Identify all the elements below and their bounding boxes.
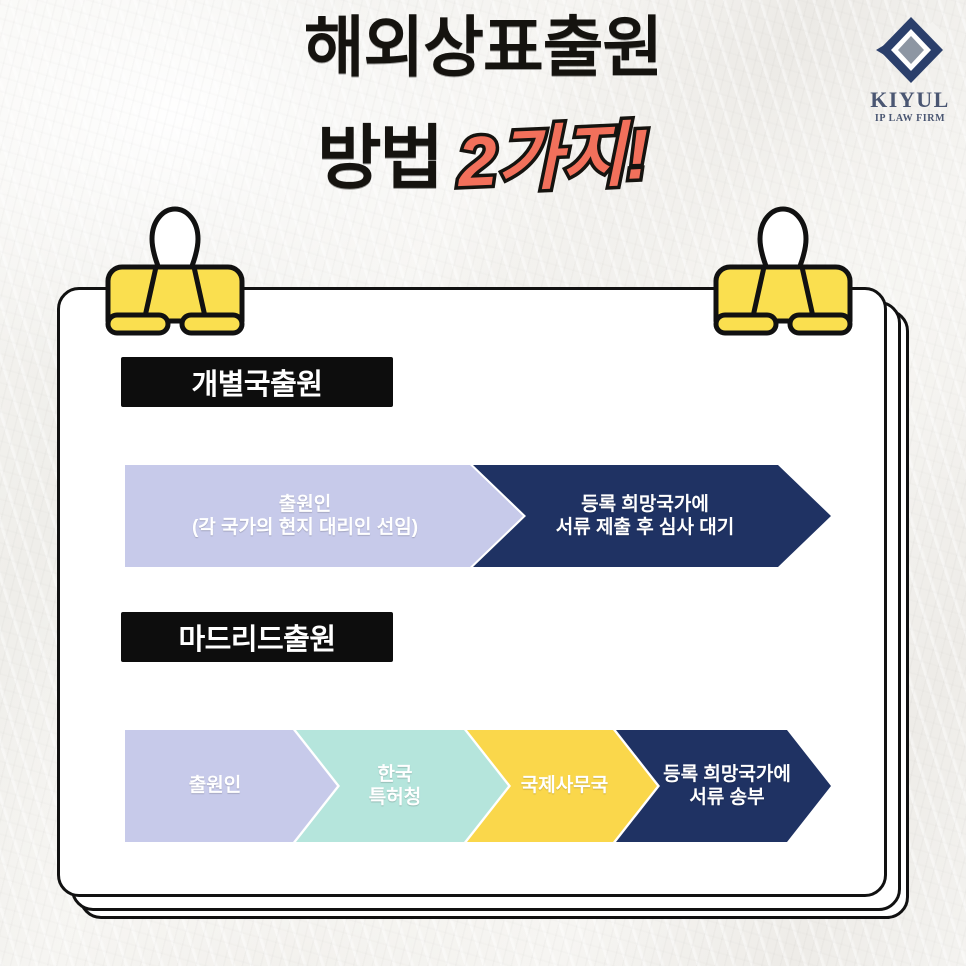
flow-chevrons-individual [125,465,831,567]
subtitle-black-part: 방법 [317,119,442,197]
subtitle-accent-part: 2가지! [456,119,650,197]
card-content: 개별국출원 출원인(각 국가의 현지 대리인 선임) 등록 희망국가에서류 제출… [57,287,887,897]
flow-chevrons-madrid [125,730,831,842]
page-subtitle: 방법2가지! [0,123,966,193]
flow-segment-applicant [125,465,523,567]
page-title: 해외상표출원 [0,14,966,80]
binder-clip-icon-right [708,193,858,338]
section-label-individual-country: 개별국출원 [121,357,393,407]
logo-tagline: IP LAW FIRM [862,113,958,124]
flow-segment-applicant [125,730,337,842]
logo-brand-name: KIYUL [862,87,958,113]
flow-individual-country: 출원인(각 국가의 현지 대리인 선임) 등록 희망국가에서류 제출 후 심사 … [125,465,831,567]
brand-logo: KIYUL IP LAW FIRM [862,14,958,134]
diamond-logo-icon [876,14,946,86]
binder-clip-icon-left [100,193,250,338]
section-label-madrid: 마드리드출원 [121,612,393,662]
flow-segment-target-country-filing [473,465,831,567]
flow-madrid: 출원인 한국특허청 국제사무국 등록 희망국가에서류 송부 [125,730,831,842]
